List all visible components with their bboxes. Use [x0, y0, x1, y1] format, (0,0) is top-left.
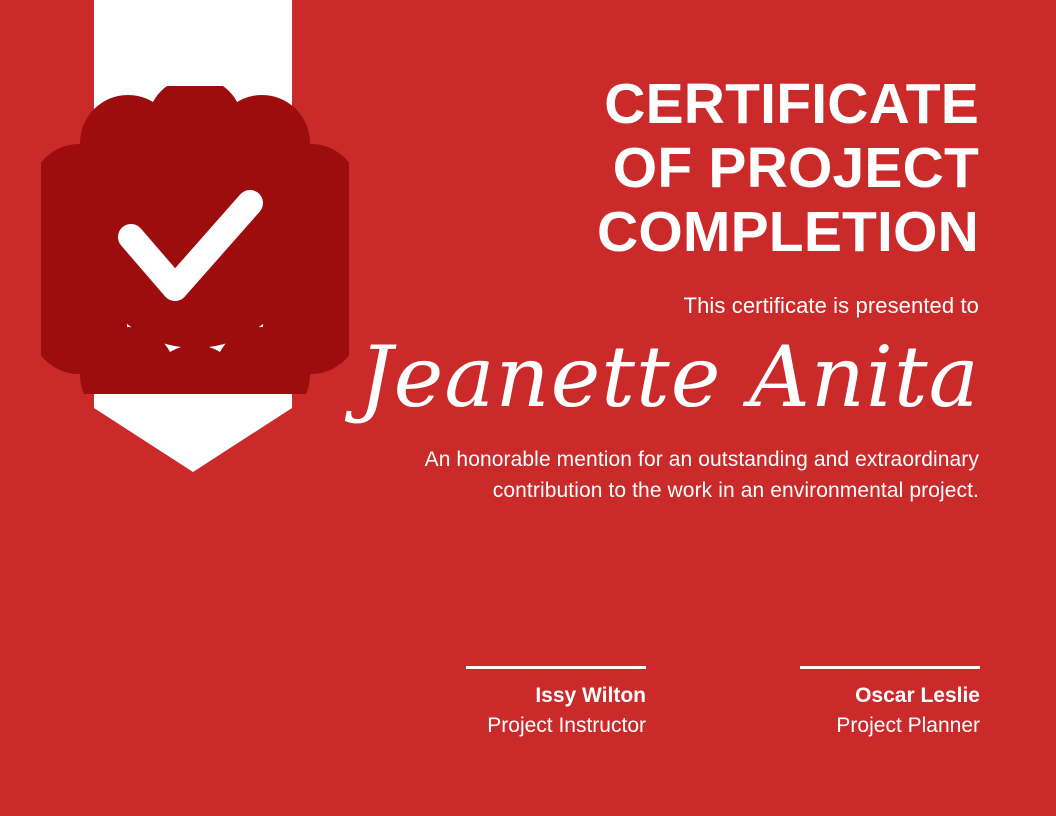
seal-shape	[41, 86, 349, 394]
signatory-name: Issy Wilton	[466, 683, 646, 709]
scalloped-seal	[41, 86, 349, 394]
citation-text: An honorable mention for an outstanding …	[359, 430, 979, 506]
presented-to-label: This certificate is presented to	[359, 264, 979, 320]
recipient-name: Jeanette Anita	[359, 320, 979, 430]
emblem	[0, 0, 400, 500]
certificate-canvas: CERTIFICATE OF PROJECT COMPLETION This c…	[0, 0, 1056, 816]
title-line-1: CERTIFICATE	[359, 72, 979, 136]
signature-area: Issy Wilton Project Instructor Oscar Les…	[0, 666, 1056, 766]
signature-rule	[800, 666, 980, 669]
title-line-2: OF PROJECT	[359, 136, 979, 200]
signature-rule	[466, 666, 646, 669]
content-column: CERTIFICATE OF PROJECT COMPLETION This c…	[359, 0, 979, 506]
signatory-role: Project Instructor	[466, 709, 646, 739]
signature-block-planner: Oscar Leslie Project Planner	[800, 666, 980, 739]
signatory-role: Project Planner	[800, 709, 980, 739]
signature-block-instructor: Issy Wilton Project Instructor	[466, 666, 646, 739]
signatory-name: Oscar Leslie	[800, 683, 980, 709]
title-line-3: COMPLETION	[359, 200, 979, 264]
page-title: CERTIFICATE OF PROJECT COMPLETION	[359, 0, 979, 264]
